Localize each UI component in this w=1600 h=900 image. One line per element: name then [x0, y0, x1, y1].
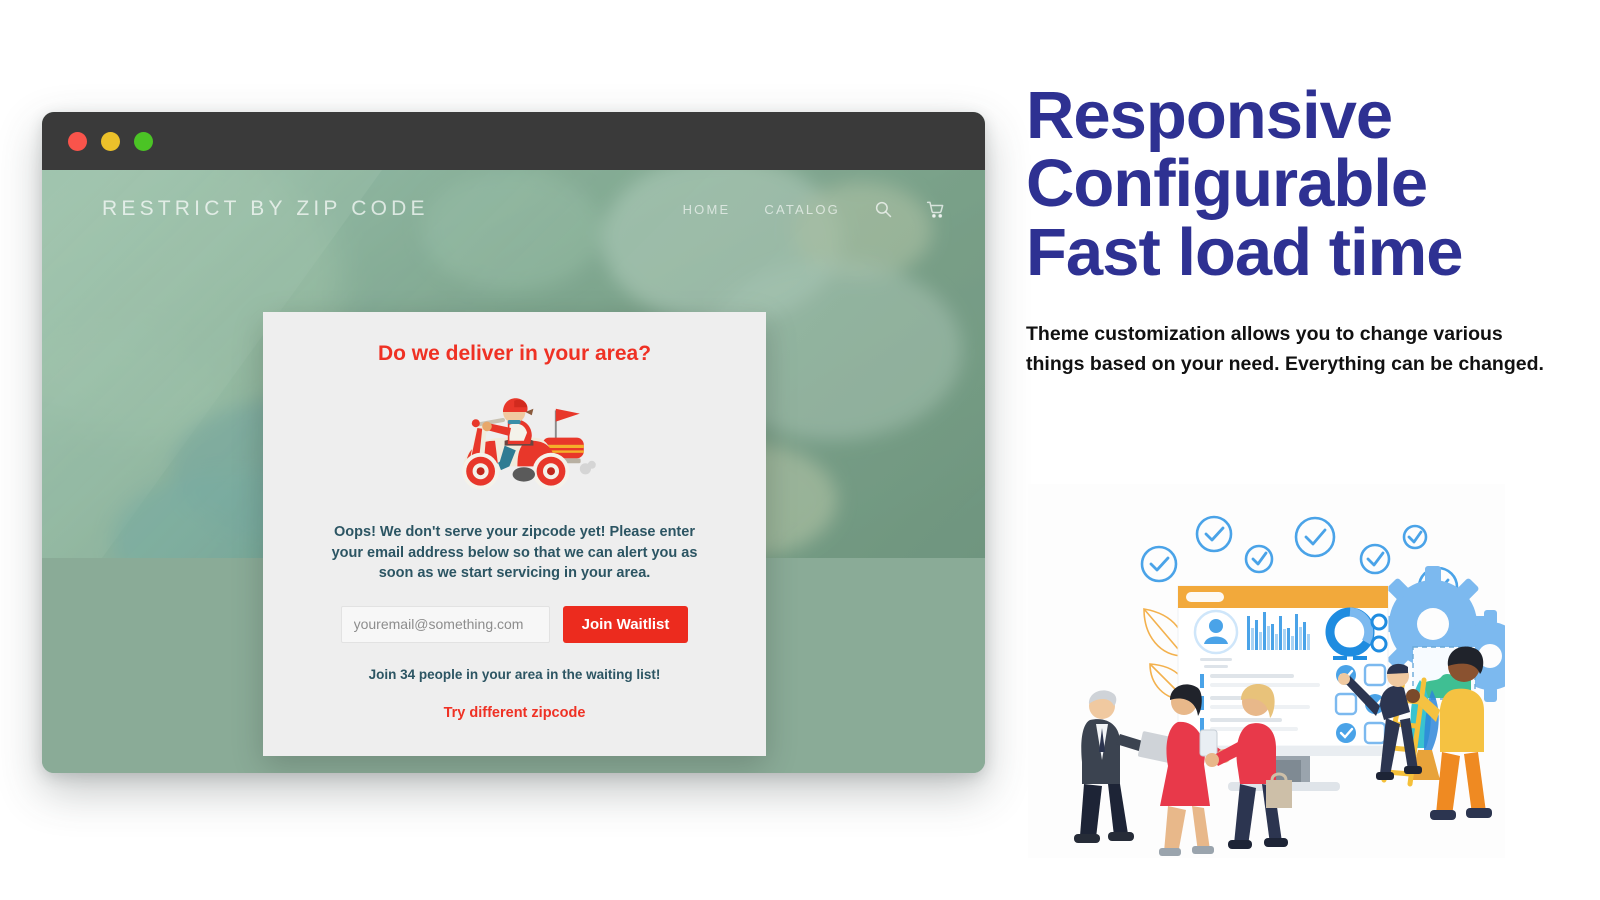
browser-window: RESTRICT BY ZIP CODE HOME CATALOG — [42, 112, 985, 773]
zipcode-modal: Do we deliver in your area? — [263, 312, 766, 756]
browser-viewport: RESTRICT BY ZIP CODE HOME CATALOG — [42, 170, 985, 773]
promo-subcopy: Theme customization allows you to change… — [1026, 320, 1544, 379]
promo-banner: RESTRICT BY ZIP CODE HOME CATALOG — [0, 0, 1600, 900]
team-customization-illustration — [1028, 484, 1505, 858]
site-logo[interactable]: RESTRICT BY ZIP CODE — [102, 197, 429, 221]
window-minimize-button[interactable] — [101, 132, 120, 151]
window-close-button[interactable] — [68, 132, 87, 151]
promo-column: Responsive Configurable Fast load time T… — [1026, 0, 1600, 900]
modal-title: Do we deliver in your area? — [293, 342, 736, 366]
site-navigation: HOME CATALOG — [683, 200, 945, 219]
headline-line-1: Responsive — [1026, 82, 1600, 150]
email-input[interactable] — [341, 606, 550, 643]
browser-mockup: RESTRICT BY ZIP CODE HOME CATALOG — [42, 112, 985, 773]
site-header: RESTRICT BY ZIP CODE HOME CATALOG — [42, 170, 985, 248]
waitlist-form: Join Waitlist — [293, 606, 736, 643]
promo-headline: Responsive Configurable Fast load time — [1026, 0, 1600, 287]
join-waitlist-button[interactable]: Join Waitlist — [563, 606, 689, 643]
waitlist-count-note: Join 34 people in your area in the waiti… — [293, 667, 736, 682]
scooter-svg — [431, 388, 599, 496]
modal-body-text: Oops! We don't serve your zipcode yet! P… — [293, 522, 736, 584]
cart-icon[interactable] — [926, 200, 945, 219]
try-different-zipcode-link[interactable]: Try different zipcode — [444, 705, 586, 721]
nav-link-home[interactable]: HOME — [683, 202, 731, 217]
browser-titlebar — [42, 112, 985, 170]
window-maximize-button[interactable] — [134, 132, 153, 151]
headline-line-3: Fast load time — [1026, 219, 1600, 287]
illustration-svg — [1028, 484, 1505, 858]
headline-line-2: Configurable — [1026, 150, 1600, 218]
scooter-delivery-illustration — [293, 388, 736, 496]
nav-link-catalog[interactable]: CATALOG — [764, 202, 840, 217]
search-icon[interactable] — [874, 200, 892, 218]
